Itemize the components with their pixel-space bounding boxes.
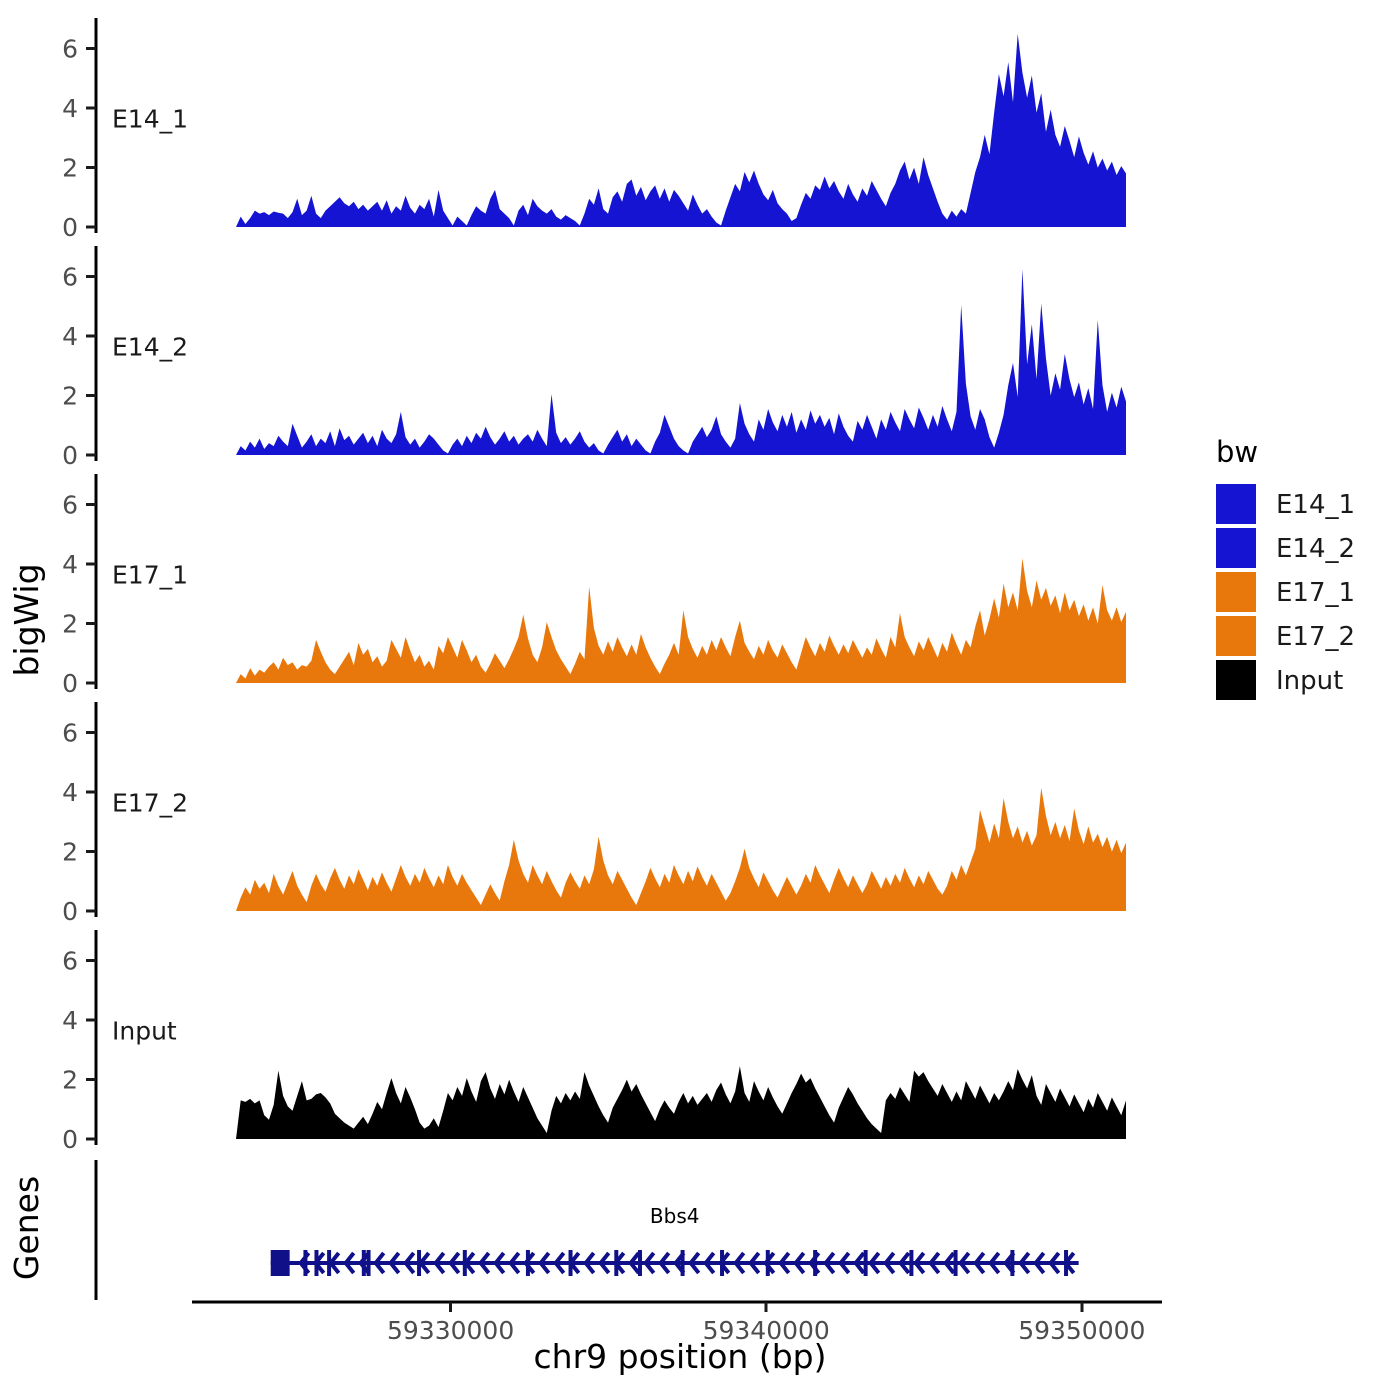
gene-exon-mark xyxy=(766,1250,770,1276)
gene-exon-mark xyxy=(954,1250,958,1276)
legend-label-e14_1: E14_1 xyxy=(1276,490,1355,520)
y-axis-title: bigWig xyxy=(7,563,46,676)
legend-swatch-input[interactable] xyxy=(1216,660,1256,700)
gene-exon-mark xyxy=(1064,1250,1068,1276)
track-label-e14_2: E14_2 xyxy=(112,332,188,361)
y-tick-label: 2 xyxy=(62,610,78,639)
y-tick-label: 6 xyxy=(62,947,78,976)
x-tick-label: 59350000 xyxy=(1018,1316,1145,1345)
y-tick-label: 6 xyxy=(62,263,78,292)
gene-exon-mark xyxy=(1010,1250,1014,1276)
legend-swatch-e14_1[interactable] xyxy=(1216,484,1256,524)
gene-exon-mark xyxy=(362,1250,366,1276)
y-tick-label: 0 xyxy=(62,213,78,242)
gene-name-label: Bbs4 xyxy=(650,1204,700,1228)
x-axis-title: chr9 position (bp) xyxy=(534,1337,827,1376)
legend-swatch-e14_2[interactable] xyxy=(1216,528,1256,568)
y-tick-label: 6 xyxy=(62,719,78,748)
gene-exon-mark xyxy=(463,1250,467,1276)
y-tick-label: 4 xyxy=(62,550,78,579)
gene-exon-mark xyxy=(681,1250,685,1276)
y-tick-label: 0 xyxy=(62,669,78,698)
y-tick-label: 2 xyxy=(62,838,78,867)
gene-exon-mark xyxy=(303,1250,307,1276)
y-tick-label: 0 xyxy=(62,897,78,926)
gene-exon-mark xyxy=(417,1250,421,1276)
gene-exon-mark xyxy=(909,1250,913,1276)
legend-label-e17_2: E17_2 xyxy=(1276,622,1355,652)
y-tick-label: 0 xyxy=(62,441,78,470)
gene-exon-mark xyxy=(614,1250,618,1276)
legend-label-input: Input xyxy=(1276,666,1343,696)
track-label-e17_1: E17_1 xyxy=(112,560,188,589)
gene-exon-mark xyxy=(526,1250,530,1276)
figure-root: 0246E14_10246E14_20246E17_10246E17_20246… xyxy=(0,0,1400,1400)
y-tick-label: 2 xyxy=(62,154,78,183)
y-tick-label: 6 xyxy=(62,491,78,520)
genome-browser-figure: 0246E14_10246E14_20246E17_10246E17_20246… xyxy=(0,0,1400,1400)
x-tick-label: 59330000 xyxy=(387,1316,514,1345)
track-label-input: Input xyxy=(112,1016,177,1045)
gene-exon-mark xyxy=(569,1250,573,1276)
y-tick-label: 4 xyxy=(62,778,78,807)
gene-thick-exon xyxy=(271,1250,290,1276)
gene-exon-mark xyxy=(864,1250,868,1276)
genes-axis-title: Genes xyxy=(7,1176,46,1280)
track-label-e14_1: E14_1 xyxy=(112,104,188,133)
gene-exon-mark xyxy=(638,1250,642,1276)
y-tick-label: 2 xyxy=(62,1066,78,1095)
gene-exon-mark xyxy=(813,1250,817,1276)
legend-label-e17_1: E17_1 xyxy=(1276,578,1355,608)
y-tick-label: 4 xyxy=(62,322,78,351)
gene-exon-mark xyxy=(314,1250,318,1276)
y-tick-label: 4 xyxy=(62,94,78,123)
gene-exon-mark xyxy=(720,1250,724,1276)
legend-label-e14_2: E14_2 xyxy=(1276,534,1355,564)
track-label-e17_2: E17_2 xyxy=(112,788,188,817)
gene-exon-mark xyxy=(367,1250,371,1276)
y-tick-label: 0 xyxy=(62,1125,78,1154)
legend-swatch-e17_2[interactable] xyxy=(1216,616,1256,656)
y-tick-label: 6 xyxy=(62,35,78,64)
legend-swatch-e17_1[interactable] xyxy=(1216,572,1256,612)
legend-title: bw xyxy=(1216,435,1258,469)
gene-exon-mark xyxy=(327,1250,331,1276)
y-tick-label: 2 xyxy=(62,382,78,411)
y-tick-label: 4 xyxy=(62,1006,78,1035)
